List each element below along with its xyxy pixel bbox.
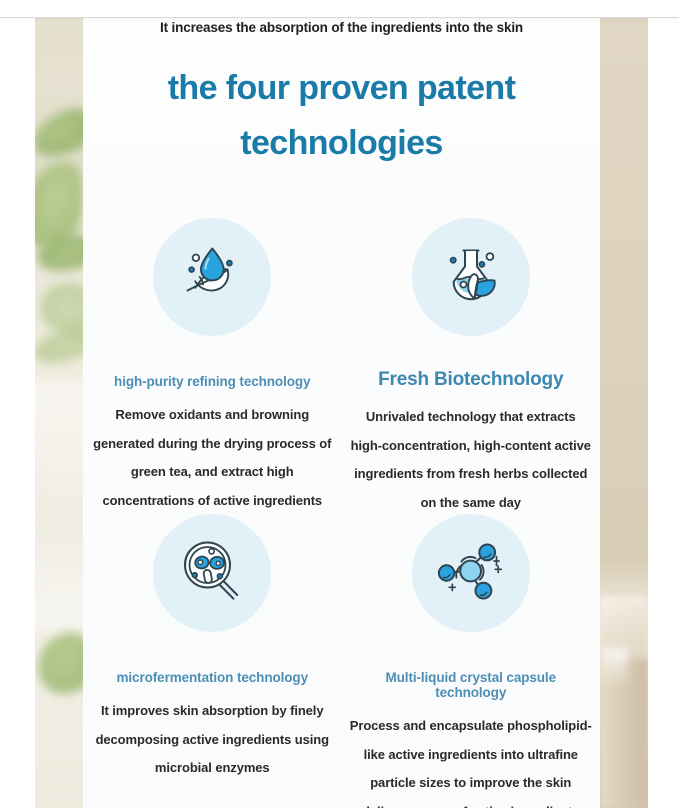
infographic-canvas: It increases the absorption of the ingre…: [0, 0, 679, 808]
icon-badge: [153, 218, 271, 336]
technology-card-fresh-biotechnology: Fresh Biotechnology Unrivaled technology…: [342, 200, 601, 500]
technology-card-microfermentation: microfermentation technology It improves…: [83, 500, 342, 800]
technology-title: Fresh Biotechnology: [378, 336, 563, 391]
page-margin-left: [0, 0, 35, 808]
viewport-top-bar: [0, 0, 679, 18]
page-title: the four proven patent technologies: [83, 35, 600, 171]
technology-description: Unrivaled technology that extracts high-…: [350, 391, 593, 517]
shelf-highlight: [602, 648, 628, 688]
technology-grid: high-purity refining technology Remove o…: [83, 200, 600, 800]
technology-title: Multi-liquid crystal capsule technology: [350, 632, 593, 700]
technology-description: It improves skin absorption by finely de…: [91, 685, 334, 783]
technology-description: Remove oxidants and browning generated d…: [91, 389, 334, 515]
glass-vase-highlight: [35, 380, 90, 630]
technology-title: high-purity refining technology: [114, 336, 310, 389]
technology-card-multi-liquid-crystal-capsule: Multi-liquid crystal capsule technology …: [342, 500, 601, 800]
molecule-capsule-icon: [432, 532, 510, 615]
icon-badge: [153, 514, 271, 632]
technology-description: Process and encapsulate phospholipid-lik…: [350, 700, 593, 808]
flask-leaf-icon: [432, 236, 510, 319]
background-photo-left: [35, 0, 90, 808]
icon-badge: [412, 218, 530, 336]
icon-badge: [412, 514, 530, 632]
water-drop-leaf-icon: [173, 236, 251, 319]
content-card: It increases the absorption of the ingre…: [83, 0, 600, 808]
leaf-blur-shape: [35, 629, 90, 698]
technology-title: microfermentation technology: [117, 632, 308, 685]
page-margin-right: [648, 0, 679, 808]
page-title-line-2: technologies: [240, 124, 443, 162]
background-photo-right: [600, 0, 648, 808]
page-title-line-1: the four proven patent: [168, 69, 516, 107]
leaf-blur-shape: [35, 100, 90, 163]
technology-card-high-purity-refining: high-purity refining technology Remove o…: [83, 200, 342, 500]
magnifier-microbe-icon: [173, 532, 251, 615]
viewport-top-shadow: [0, 17, 679, 21]
